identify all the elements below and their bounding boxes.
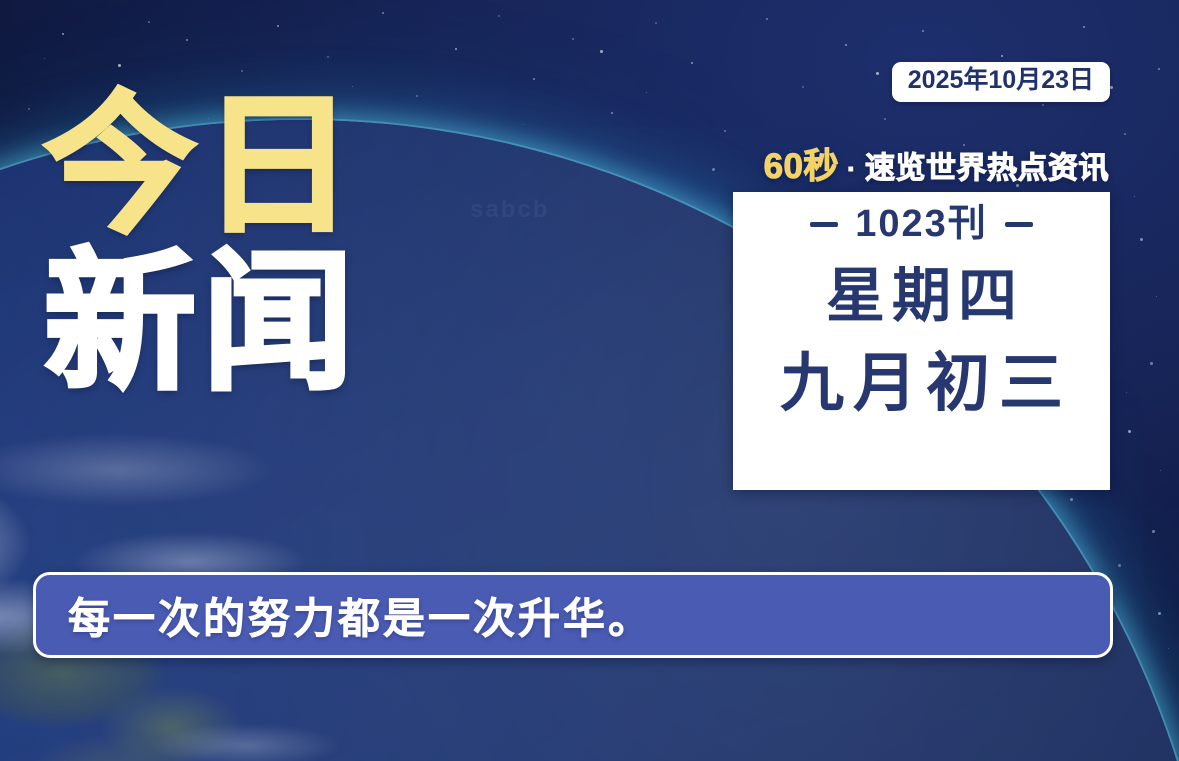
tagline-separator: · [841, 154, 863, 185]
tagline-slogan: 速览世界热点资讯 [865, 143, 1109, 187]
issue-dash-right-icon [1005, 222, 1033, 227]
issue-number-row: 1023刊 [810, 204, 1033, 246]
date-badge: 2025年10月23日 [892, 62, 1110, 102]
issue-number: 1023刊 [855, 204, 988, 246]
lunar-date-label: 九月初三 [771, 350, 1072, 417]
quote-banner: 每一次的努力都是一次升华。 [33, 572, 1113, 658]
issue-dash-left-icon [810, 222, 838, 227]
poster-foreground: 今日 新闻 2025年10月23日 60秒 · 速览世界热点资讯 1023刊 星… [0, 0, 1179, 761]
weekday-label: 星期四 [819, 266, 1024, 328]
masthead-title-line-2: 新闻 [44, 249, 464, 398]
masthead-title: 今日 新闻 [44, 92, 464, 398]
news-poster: sabcb 今日 新闻 2025年10月23日 60秒 · 速览世界热点资讯 1… [0, 0, 1179, 761]
issue-info-card: 1023刊 星期四 九月初三 [733, 192, 1110, 490]
masthead-title-line-1: 今日 [44, 92, 464, 241]
quote-text: 每一次的努力都是一次升华。 [36, 585, 653, 646]
tagline: 60秒 · 速览世界热点资讯 [764, 138, 1109, 189]
tagline-seconds: 60秒 [764, 138, 839, 189]
